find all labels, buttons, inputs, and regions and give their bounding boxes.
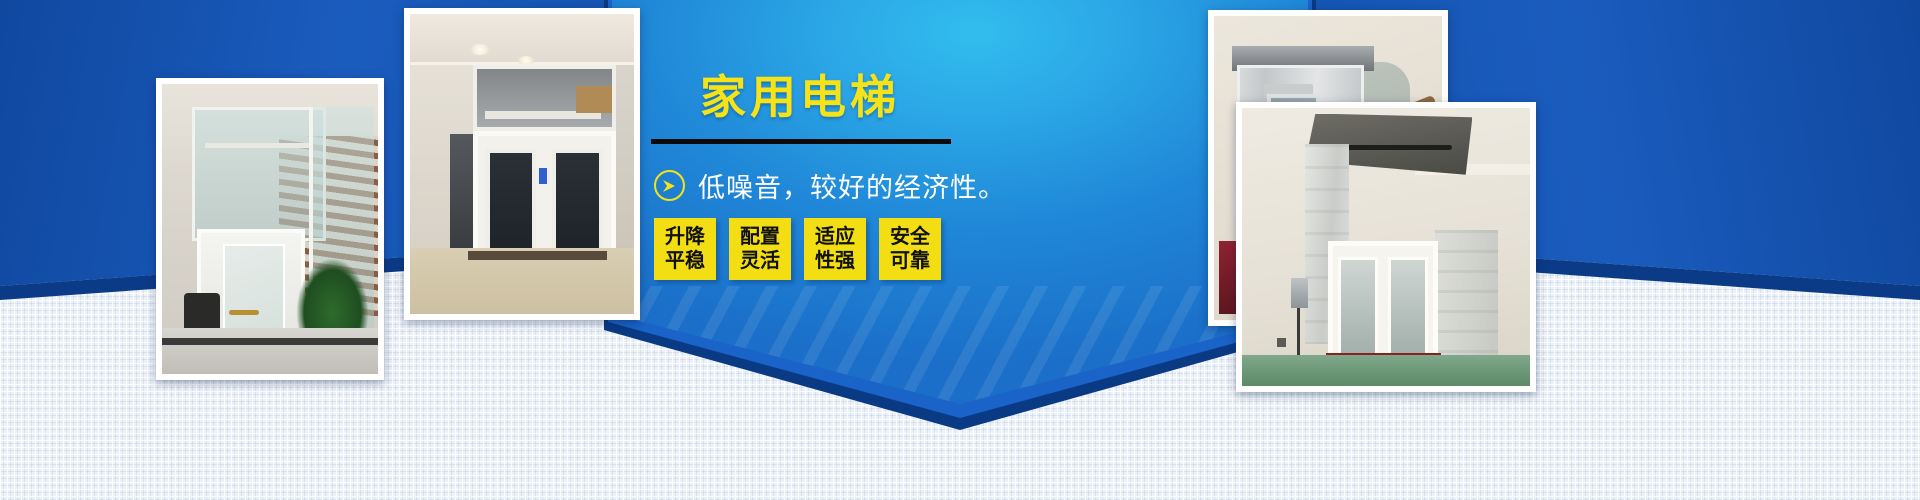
green-epoxy-floor [1242,355,1530,386]
banner-content: 家用电梯 低噪音，较好的经济性。 升降 平稳 配置 灵活 适应 性强 [612,0,1308,404]
feature-badge-list: 升降 平稳 配置 灵活 适应 性强 安全 可靠 [654,218,941,280]
badge-line-1: 适应 [815,225,855,249]
badge-line-2: 可靠 [890,249,930,273]
banner-subtitle: 低噪音，较好的经济性。 [698,166,1006,205]
tiled-floor [162,328,378,374]
home-elevator-banner: 家用电梯 低噪音，较好的经济性。 升降 平稳 配置 灵活 适应 性强 [0,0,1920,500]
badge-line-2: 灵活 [740,249,780,273]
photo-white-glass-home-lift [156,78,384,380]
banner-subtitle-row: 低噪音，较好的经济性。 [654,166,1006,205]
door-handle-bar [229,310,259,315]
badge-adaptability[interactable]: 适应 性强 [804,218,866,280]
photo-installation-site [1236,102,1536,392]
photo-modern-white-lift [404,8,640,320]
title-divider [651,139,951,144]
cabin-indicator [539,168,547,184]
badge-line-2: 平稳 [665,249,705,273]
hanging-wire [1297,308,1300,358]
badge-line-1: 安全 [890,225,930,249]
banner-title: 家用电梯 [700,74,1220,120]
circled-arrow-right-icon [654,170,685,201]
glass-shaft [192,107,326,240]
badge-flexible-config[interactable]: 配置 灵活 [729,218,791,280]
badge-line-2: 性强 [815,249,855,273]
floor [410,248,634,314]
photo-1-image [162,84,378,374]
photo-2-image [410,14,634,314]
photo-4-image [1242,108,1530,386]
wall-socket [1277,338,1286,347]
call-button-panel [1291,278,1308,309]
badge-smooth-lift[interactable]: 升降 平稳 [654,218,716,280]
badge-line-1: 配置 [740,225,780,249]
badge-line-1: 升降 [665,225,705,249]
badge-safe-reliable[interactable]: 安全 可靠 [879,218,941,280]
ceiling-spotlight [518,56,534,65]
ceiling-carton [576,86,612,113]
